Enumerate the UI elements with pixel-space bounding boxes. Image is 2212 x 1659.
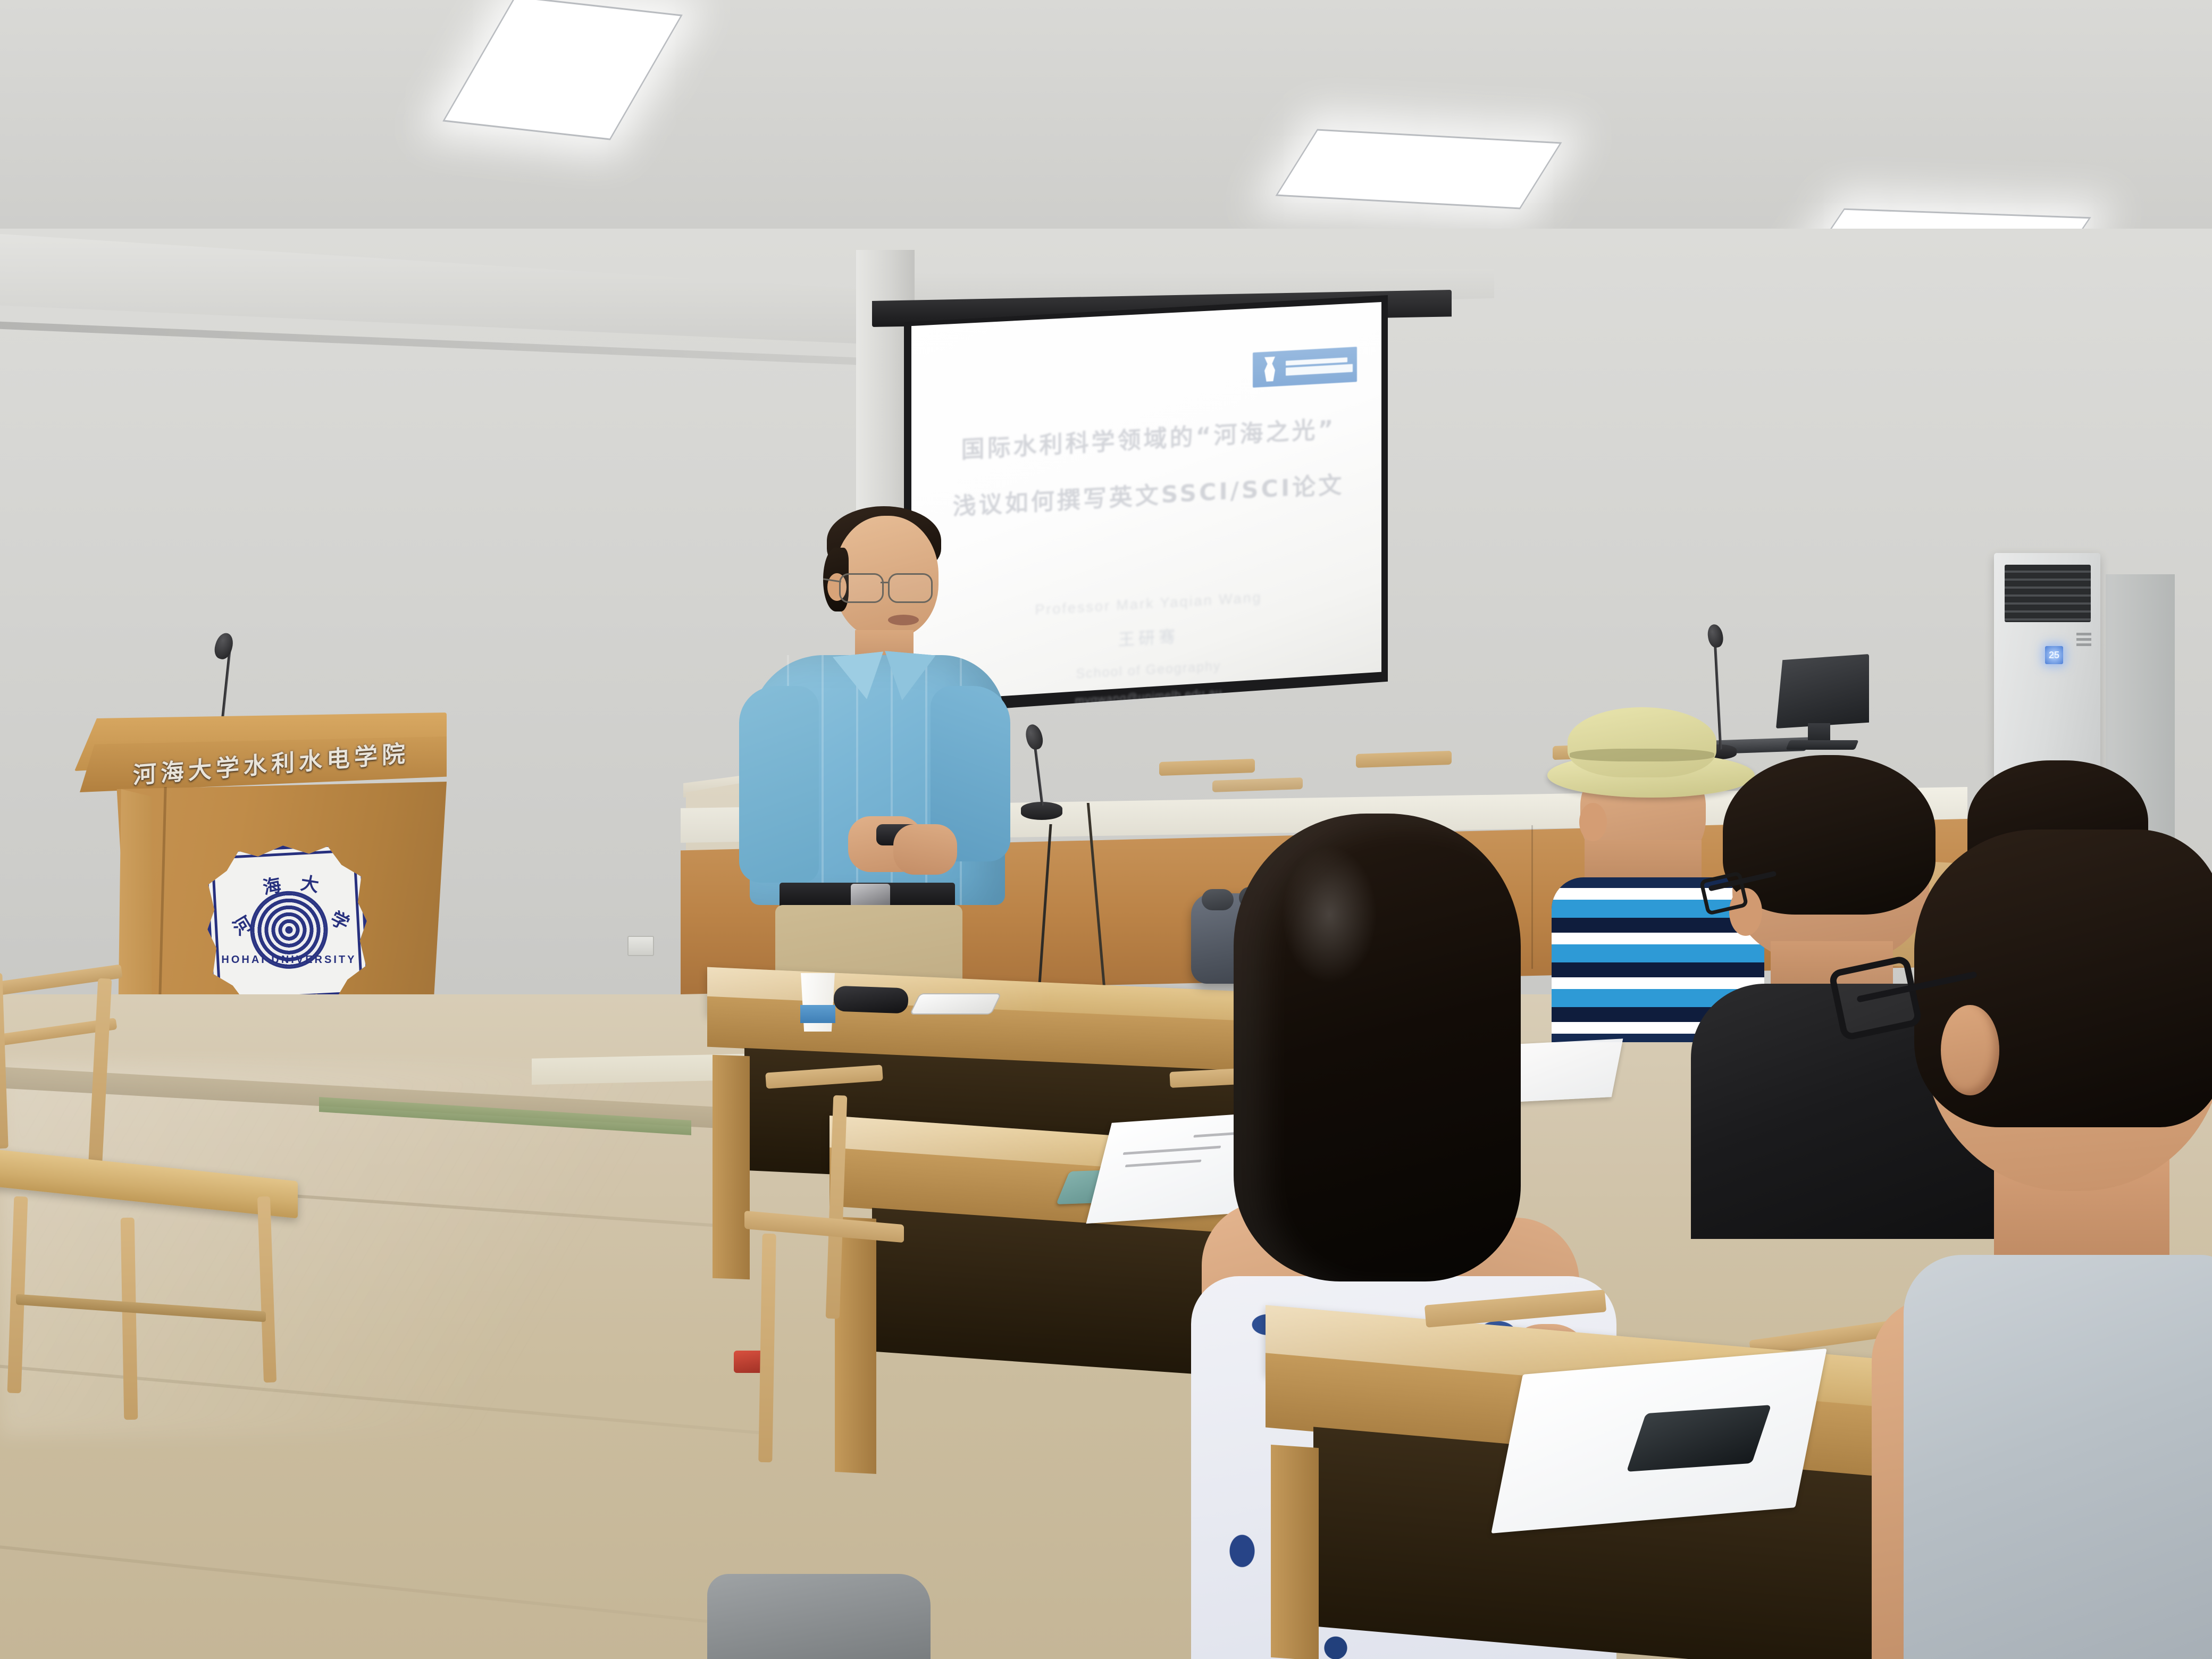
desk-row-3-leg: [1271, 1445, 1319, 1659]
front-man-ear: [1941, 1005, 1999, 1095]
logo-english-text: HOHAI UNIVERSITY: [209, 954, 368, 966]
hohai-university-logo: 河 海 大 学 HOHAI UNIVERSITY: [203, 841, 371, 1009]
woman-hair-highlight: [1281, 845, 1377, 984]
air-conditioner-brand-icon: [2076, 633, 2091, 649]
ceiling-light-2: [1275, 129, 1562, 210]
computer-monitor[interactable]: [1776, 654, 1869, 728]
presenter-person: [734, 510, 1010, 1042]
dark-tablet[interactable]: [1627, 1405, 1772, 1472]
woman-hair: [1234, 814, 1521, 1281]
glasses-lens-left: [839, 573, 884, 603]
melbourne-crest-icon: [1259, 356, 1280, 382]
melbourne-wordmark: [1286, 357, 1353, 376]
monitor-base: [1786, 740, 1858, 750]
audience-front-man: [1819, 829, 2212, 1659]
melbourne-university-logo: [1253, 347, 1357, 388]
air-conditioner-display: 25: [2045, 646, 2063, 664]
glasses-bridge: [881, 582, 888, 583]
presenter-mouth: [888, 615, 919, 625]
wall-socket: [627, 936, 654, 956]
desk-row-1-leg: [713, 1055, 750, 1279]
lecture-room-photo: 国际水利科学领域的“河海之光” 浅议如何撰写英文SSCI/SCI论文 Profe…: [0, 0, 2212, 1659]
slide-title-line-1: 国际水利科学领域的“河海之光”: [936, 408, 1361, 466]
glasses-case[interactable]: [833, 986, 909, 1014]
glasses-lens-right: [888, 573, 933, 603]
air-conditioner-grille: [2005, 565, 2091, 622]
presenter-glasses: [839, 573, 940, 601]
front-man-tank-top: [1904, 1255, 2212, 1659]
presenter-hand-right: [893, 824, 957, 875]
floor-bag: [707, 1574, 931, 1659]
presenter-arm-left: [739, 686, 819, 883]
paper-cup-band: [800, 1005, 835, 1023]
white-smartphone[interactable]: [909, 993, 1002, 1015]
